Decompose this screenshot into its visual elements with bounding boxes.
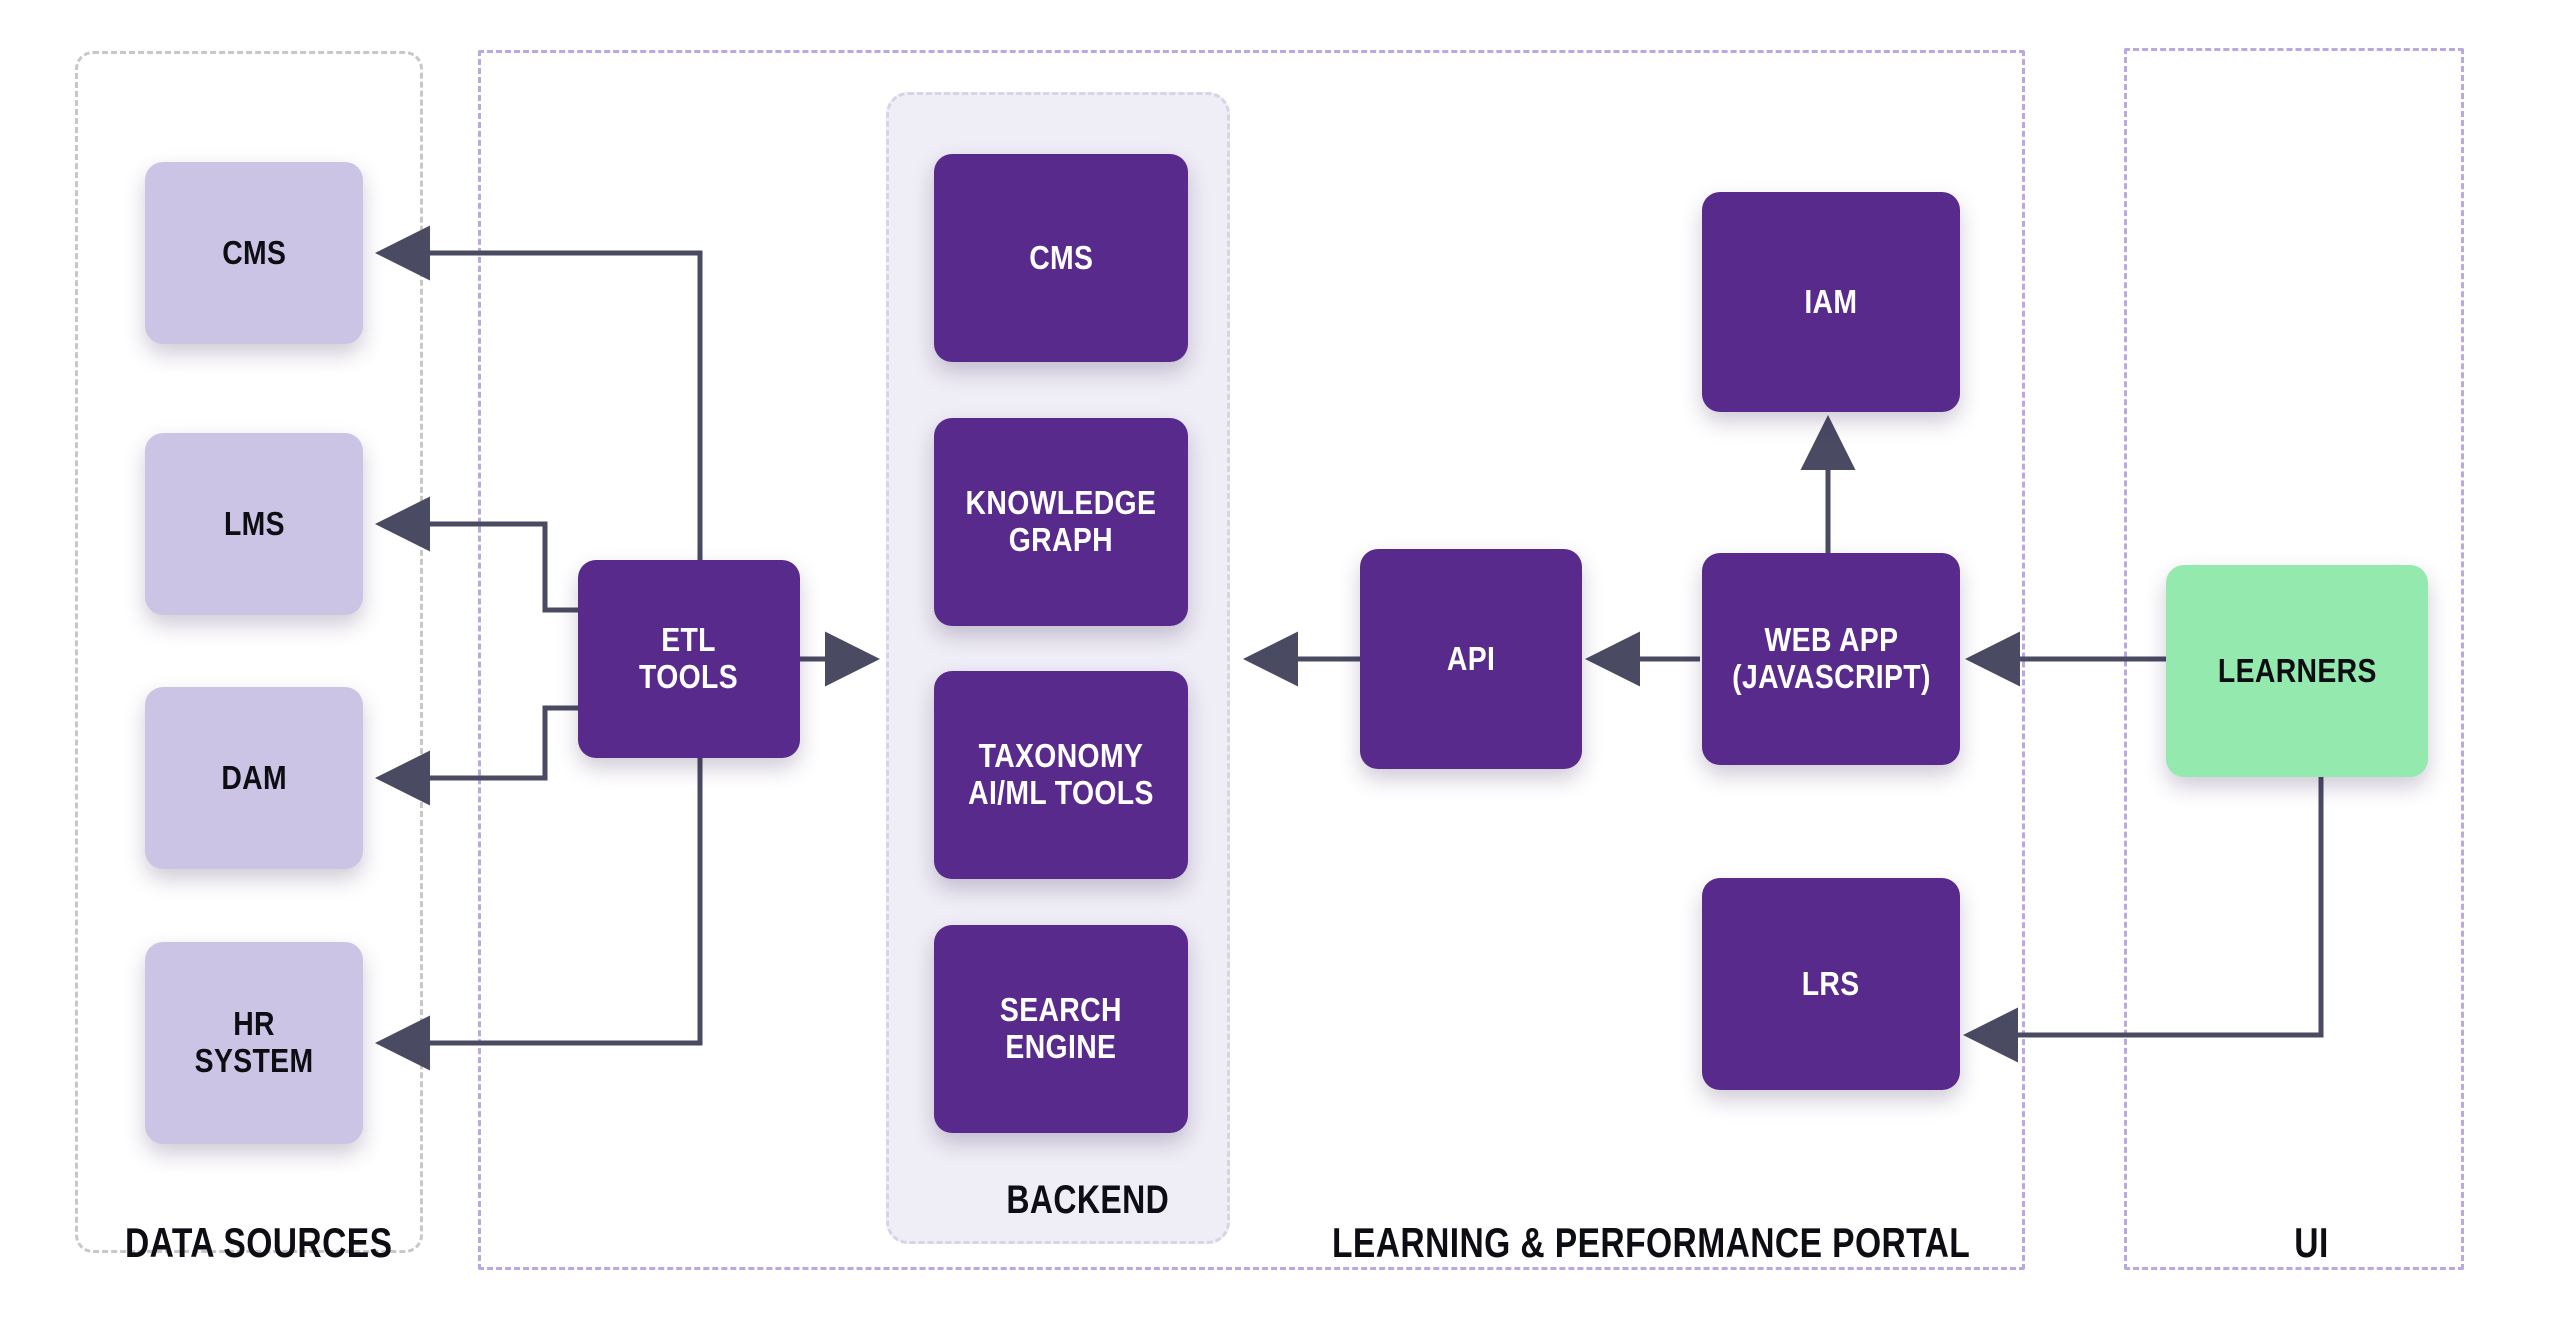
node-source-dam[interactable]: DAM	[145, 687, 363, 869]
node-taxonomy-ai-ml-tools[interactable]: TAXONOMY AI/ML TOOLS	[934, 671, 1188, 879]
group-label-ui: UI	[2294, 1222, 2328, 1264]
node-web-app-label: WEB APP (JAVASCRIPT)	[1732, 622, 1931, 696]
node-api-label: API	[1447, 641, 1495, 678]
node-source-lms[interactable]: LMS	[145, 433, 363, 615]
node-lrs-label: LRS	[1802, 966, 1860, 1003]
node-etl-tools-label: ETL TOOLS	[640, 622, 739, 696]
node-iam[interactable]: IAM	[1702, 192, 1960, 412]
node-source-hr-system[interactable]: HR SYSTEM	[145, 942, 363, 1144]
node-lrs[interactable]: LRS	[1702, 878, 1960, 1090]
node-search-engine[interactable]: SEARCH ENGINE	[934, 925, 1188, 1133]
node-backend-cms[interactable]: CMS	[934, 154, 1188, 362]
node-web-app[interactable]: WEB APP (JAVASCRIPT)	[1702, 553, 1960, 765]
node-learners[interactable]: LEARNERS	[2166, 565, 2428, 777]
node-source-hr-system-label: HR SYSTEM	[195, 1006, 314, 1080]
node-learners-label: LEARNERS	[2218, 653, 2377, 690]
node-source-lms-label: LMS	[224, 506, 285, 543]
group-label-backend: BACKEND	[1006, 1180, 1169, 1220]
node-api[interactable]: API	[1360, 549, 1582, 769]
group-label-portal: LEARNING & PERFORMANCE PORTAL	[1332, 1222, 1970, 1264]
node-source-cms[interactable]: CMS	[145, 162, 363, 344]
node-etl-tools[interactable]: ETL TOOLS	[578, 560, 800, 758]
group-label-data-sources: DATA SOURCES	[125, 1222, 392, 1264]
node-iam-label: IAM	[1804, 284, 1857, 321]
node-knowledge-graph[interactable]: KNOWLEDGE GRAPH	[934, 418, 1188, 626]
architecture-diagram-canvas: DATA SOURCES LEARNING & PERFORMANCE PORT…	[0, 0, 2560, 1340]
node-source-cms-label: CMS	[222, 235, 286, 272]
node-backend-cms-label: CMS	[1029, 240, 1093, 277]
node-knowledge-graph-label: KNOWLEDGE GRAPH	[966, 485, 1157, 559]
node-source-dam-label: DAM	[221, 760, 287, 797]
node-taxonomy-ai-ml-tools-label: TAXONOMY AI/ML TOOLS	[968, 738, 1154, 812]
node-search-engine-label: SEARCH ENGINE	[1000, 992, 1122, 1066]
